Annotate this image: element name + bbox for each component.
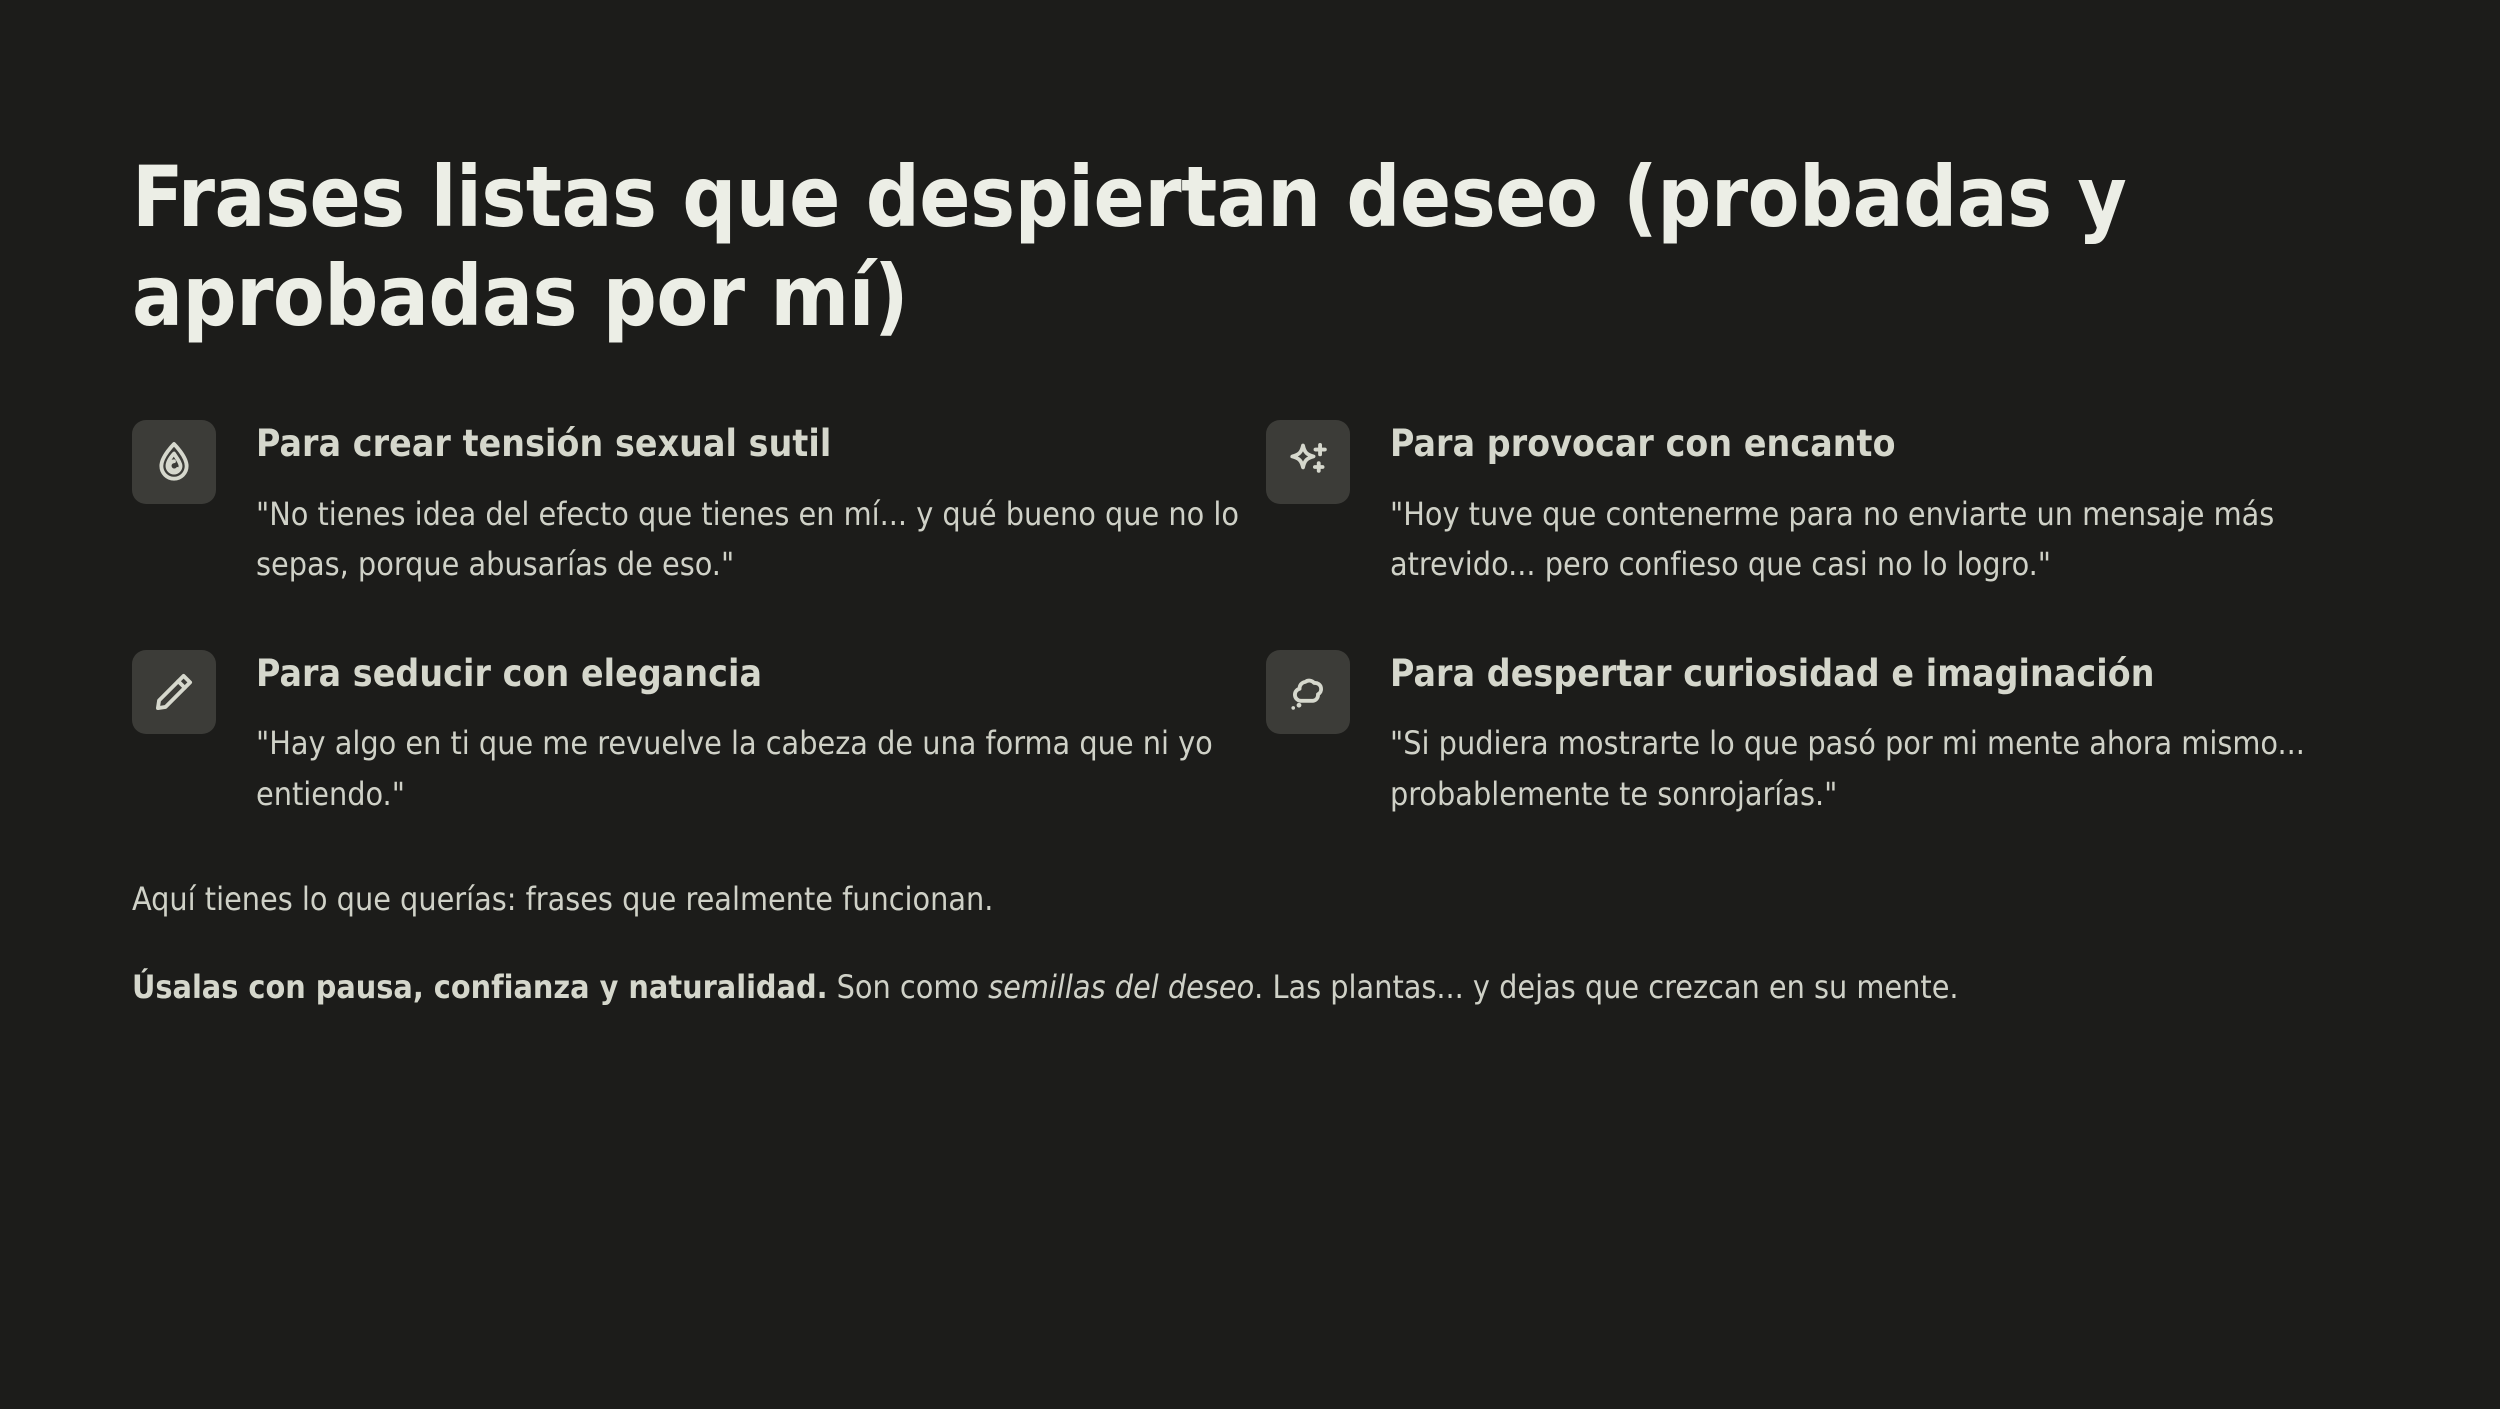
flame-drop-icon [132,420,216,504]
page-title: Frases listas que despiertan deseo (prob… [132,148,2312,346]
footer-italic-phrase: semillas del deseo [988,968,1254,1006]
tip-card-quote: "Hoy tuve que contenerme para no enviart… [1390,489,2400,590]
tip-card: Para seducir con elegancia "Hay algo en … [132,648,1266,819]
footer-tail-text: . Las plantas... y dejas que crezcan en … [1254,968,1958,1006]
tip-card-body: Para seducir con elegancia "Hay algo en … [256,648,1266,819]
tip-card-title: Para provocar con encanto [1390,422,2400,466]
tip-card: Para crear tensión sexual sutil "No tien… [132,418,1266,589]
thought-bubble-icon [1266,650,1350,734]
footer-intro-line: Aquí tienes lo que querías: frases que r… [132,875,2368,925]
tip-card-quote: "Si pudiera mostrarte lo que pasó por mi… [1390,718,2400,819]
footer-closing-line: Úsalas con pausa, confianza y naturalida… [132,963,2368,1013]
footer-bold-lead: Úsalas con pausa, confianza y naturalida… [132,968,828,1006]
pencil-icon [132,650,216,734]
page-root: Frases listas que despiertan deseo (prob… [0,148,2500,1409]
sparkles-icon [1266,420,1350,504]
tips-grid: Para crear tensión sexual sutil "No tien… [132,418,2368,819]
footer-text: Aquí tienes lo que querías: frases que r… [132,875,2368,1012]
tip-card-quote: "No tienes idea del efecto que tienes en… [256,489,1266,590]
footer-middle-text: Son como [828,968,989,1006]
tip-card-body: Para provocar con encanto "Hoy tuve que … [1390,418,2400,589]
tip-card-title: Para despertar curiosidad e imaginación [1390,652,2400,696]
tip-card-title: Para seducir con elegancia [256,652,1266,696]
tip-card-quote: "Hay algo en ti que me revuelve la cabez… [256,718,1266,819]
tip-card: Para despertar curiosidad e imaginación … [1266,648,2400,819]
tip-card-title: Para crear tensión sexual sutil [256,422,1266,466]
tip-card: Para provocar con encanto "Hoy tuve que … [1266,418,2400,589]
tip-card-body: Para crear tensión sexual sutil "No tien… [256,418,1266,589]
tip-card-body: Para despertar curiosidad e imaginación … [1390,648,2400,819]
